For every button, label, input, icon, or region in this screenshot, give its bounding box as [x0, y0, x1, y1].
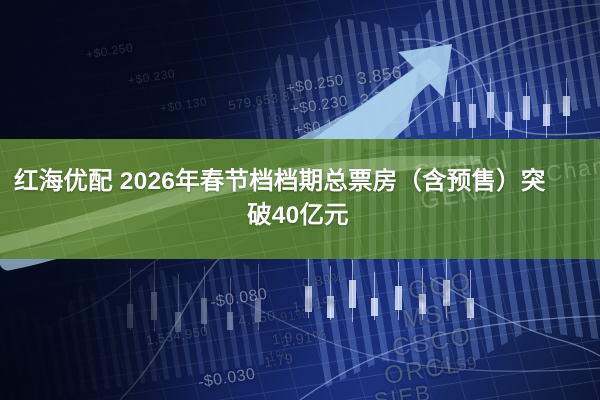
percent-text-5: 1%	[267, 347, 289, 365]
headline-line-1: 红海优配 2026年春节档档期总票房（含预售）突	[14, 165, 586, 199]
headline-text-block: 红海优配 2026年春节档档期总票房（含预售）突 破40亿元	[0, 139, 600, 259]
banner-image: +$0.250 3.856 +$0.230 3.726 +$0.130 3.61…	[0, 0, 600, 400]
headline-line-2: 破40亿元	[14, 199, 586, 233]
